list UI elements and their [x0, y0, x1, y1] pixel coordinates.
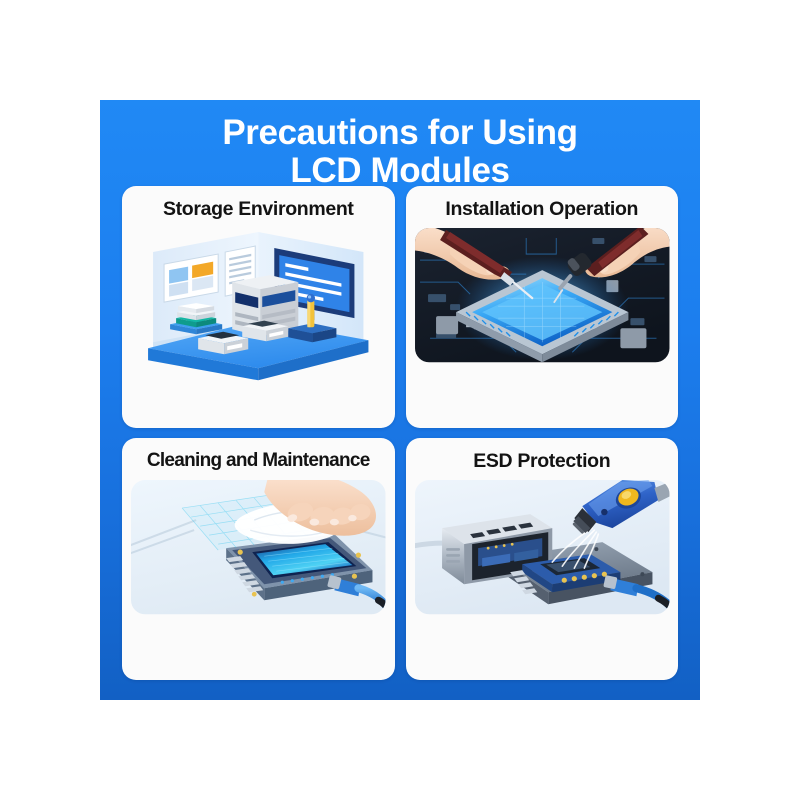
card-cleaning-and-maintenance[interactable]: Cleaning and Maintenance: [122, 438, 395, 680]
hands-installing-lcd-module-photo: [406, 220, 679, 428]
blue-panel: Precautions for Using LCD Modules Storag…: [100, 100, 700, 700]
card-title-installation-operation: Installation Operation: [445, 198, 638, 220]
cards-grid: Storage Environment: [122, 186, 678, 680]
esd-protection-art: [406, 472, 679, 680]
page-title-line-1: Precautions for Using: [222, 113, 577, 152]
card-title-esd-protection: ESD Protection: [473, 450, 610, 472]
card-esd-protection[interactable]: ESD Protection: [406, 438, 679, 680]
wiping-lcd-screen-with-cloth-photo: [122, 472, 395, 680]
isometric-storage-room-illustration: [122, 220, 395, 428]
card-storage-environment[interactable]: Storage Environment: [122, 186, 395, 428]
page-title: Precautions for Using LCD Modules: [100, 114, 700, 190]
card-title-storage-environment: Storage Environment: [163, 198, 354, 220]
storage-environment-art: [122, 220, 395, 428]
page-title-line-2: LCD Modules: [100, 152, 700, 190]
card-installation-operation[interactable]: Installation Operation: [406, 186, 679, 428]
installation-operation-art: [406, 220, 679, 428]
card-title-cleaning-and-maintenance: Cleaning and Maintenance: [147, 450, 370, 472]
cleaning-maintenance-art: [122, 472, 395, 680]
screenshot-root: Precautions for Using LCD Modules Storag…: [0, 0, 800, 800]
esd-ionizer-blower-photo: [406, 472, 679, 680]
